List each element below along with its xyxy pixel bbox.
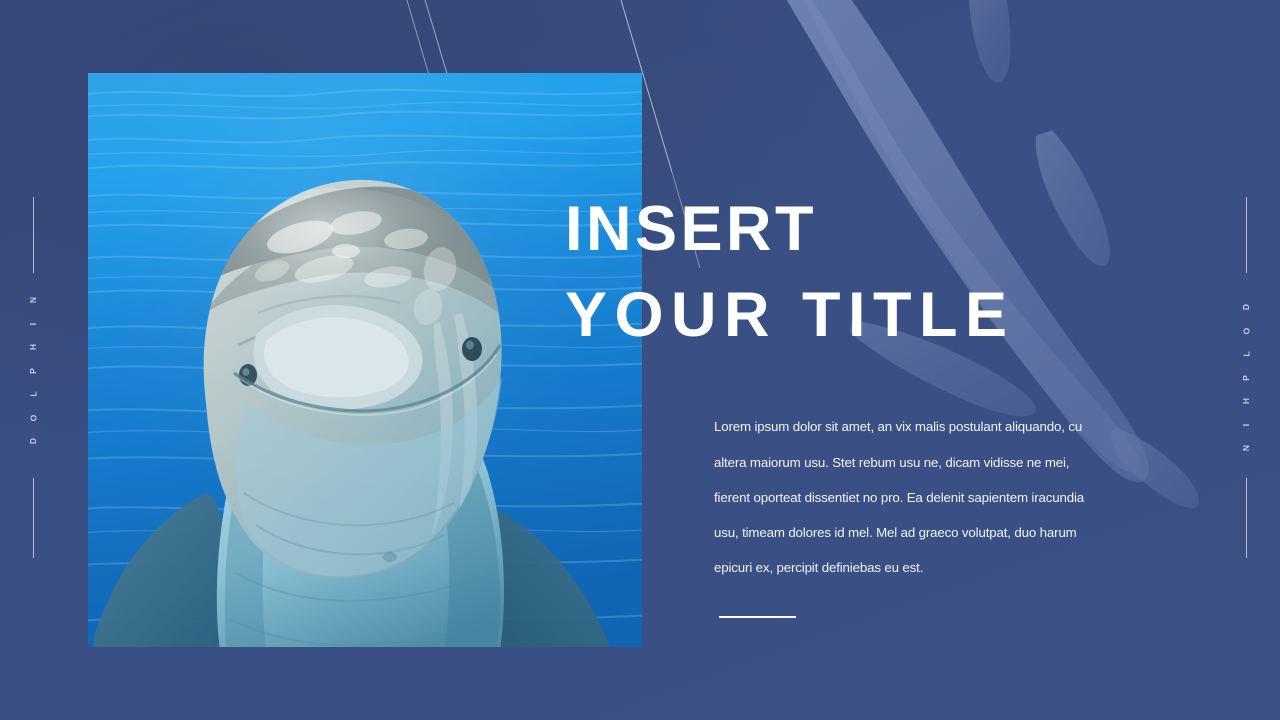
title-line-2: YOUR TITLE bbox=[565, 272, 1085, 358]
left-vertical-label: D O L P H I N bbox=[30, 288, 37, 453]
right-side-decoration: D O L P H I N bbox=[1227, 0, 1267, 720]
right-letter-4: H bbox=[1235, 397, 1259, 404]
right-bottom-bar bbox=[1246, 478, 1247, 558]
left-letter-1: O bbox=[22, 414, 46, 421]
left-letter-0: D bbox=[22, 437, 46, 444]
page-title: INSERT YOUR TITLE bbox=[565, 186, 1085, 358]
left-letter-4: H bbox=[22, 343, 46, 350]
left-side-decoration: D O L P H I N bbox=[14, 0, 54, 720]
left-letter-3: P bbox=[22, 367, 46, 373]
right-vertical-label: D O L P H I N bbox=[1243, 295, 1250, 460]
left-letter-2: L bbox=[22, 391, 46, 397]
right-letter-5: I bbox=[1235, 423, 1259, 426]
dolphin-photo-illustration bbox=[88, 73, 642, 647]
presentation-slide: INSERT YOUR TITLE Lorem ipsum dolor sit … bbox=[0, 0, 1280, 720]
right-letter-3: P bbox=[1235, 374, 1259, 380]
left-letter-6: N bbox=[22, 296, 46, 303]
right-letter-2: L bbox=[1235, 351, 1259, 357]
dolphin-photo bbox=[88, 73, 642, 647]
right-letter-1: O bbox=[1235, 327, 1259, 334]
title-line-1: INSERT bbox=[565, 186, 1085, 272]
body-paragraph: Lorem ipsum dolor sit amet, an vix malis… bbox=[714, 409, 1106, 585]
left-top-bar bbox=[33, 197, 34, 273]
right-letter-6: N bbox=[1235, 444, 1259, 451]
right-letter-0: D bbox=[1235, 303, 1259, 310]
left-bottom-bar bbox=[33, 478, 34, 558]
accent-rule bbox=[719, 616, 796, 618]
right-top-bar bbox=[1246, 197, 1247, 273]
left-letter-5: I bbox=[22, 322, 46, 325]
